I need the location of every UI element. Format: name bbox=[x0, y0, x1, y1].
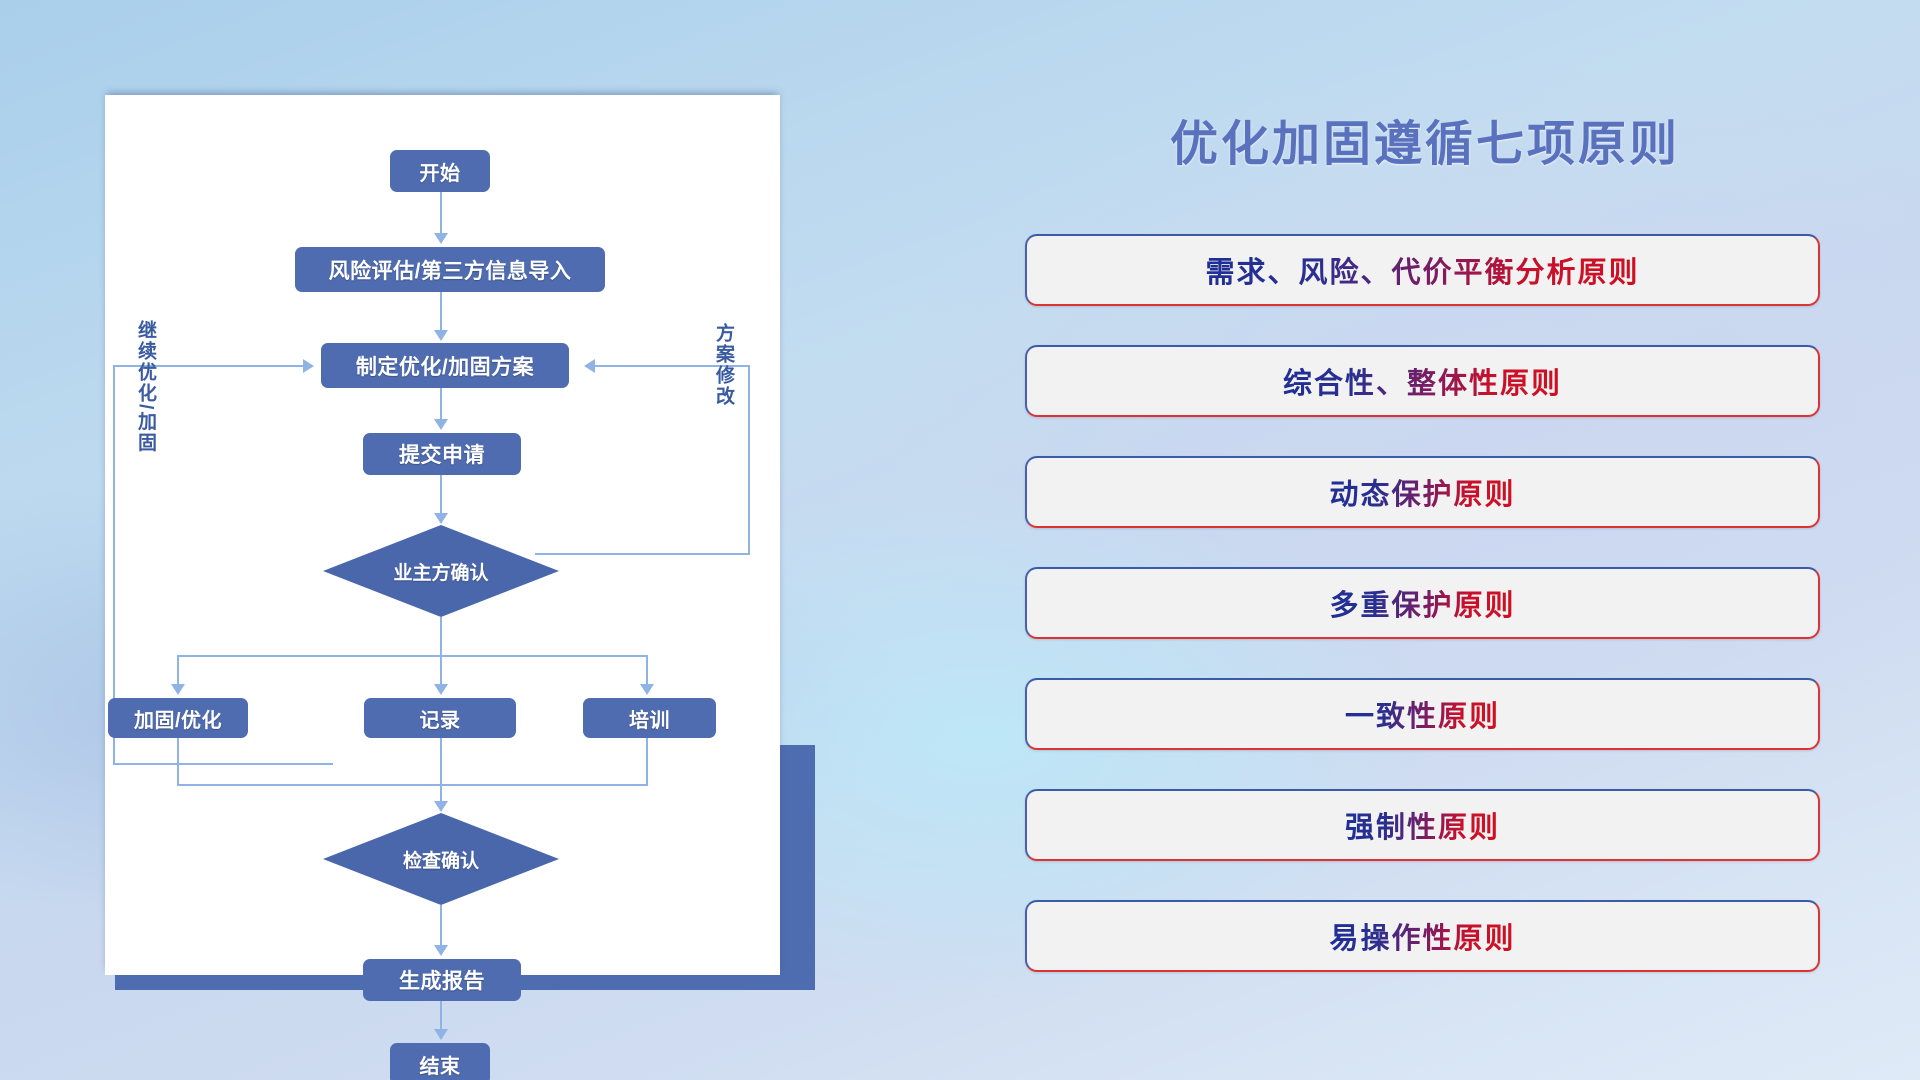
flow-node-reinforce-optimize[interactable]: 加固/优化 bbox=[108, 698, 248, 738]
arrow-report-to-end-icon bbox=[434, 1029, 448, 1040]
flow-node-risk-assessment-label: 风险评估/第三方信息导入 bbox=[329, 255, 572, 285]
arrow-right-loop-into-plan-icon bbox=[584, 359, 595, 373]
arrow-start-to-risk-icon bbox=[434, 233, 448, 244]
flow-node-training[interactable]: 培训 bbox=[583, 698, 716, 738]
connector-fanout-left bbox=[177, 655, 179, 687]
flow-node-end-label: 结束 bbox=[420, 1050, 461, 1079]
arrow-risk-to-plan-icon bbox=[434, 330, 448, 341]
connector-right-loop-vertical bbox=[748, 365, 750, 555]
connector-fanout-center bbox=[440, 655, 442, 687]
principle-card-6[interactable]: 强制性原则 bbox=[1025, 789, 1820, 861]
flow-node-submit-application-label: 提交申请 bbox=[399, 439, 485, 469]
principle-card-5-label: 一致性原则 bbox=[1345, 693, 1500, 735]
arrow-plan-to-submit-icon bbox=[434, 419, 448, 430]
principle-list: 需求、风险、代价平衡分析原则 综合性、整体性原则 动态保护原则 多重保护原则 一… bbox=[1025, 234, 1820, 1011]
flow-node-make-plan[interactable]: 制定优化/加固方案 bbox=[321, 343, 569, 388]
flow-decision-check-confirm[interactable]: 检查确认 bbox=[323, 813, 559, 905]
connector-right-loop-bottom bbox=[535, 553, 750, 555]
flow-edge-label-continue-optimize: 继续优化/加固 bbox=[135, 320, 155, 453]
connector-fanin-right bbox=[646, 738, 648, 786]
principle-card-3[interactable]: 动态保护原则 bbox=[1025, 456, 1820, 528]
connector-check-to-report bbox=[440, 905, 442, 949]
arrow-to-record-icon bbox=[434, 684, 448, 695]
connector-fanin-center bbox=[440, 738, 442, 804]
connector-fanin-bottom bbox=[177, 784, 647, 786]
principle-card-1-label: 需求、风险、代价平衡分析原则 bbox=[1205, 249, 1639, 291]
arrow-check-to-report-icon bbox=[434, 945, 448, 956]
principle-card-3-label: 动态保护原则 bbox=[1329, 471, 1515, 513]
flow-node-end[interactable]: 结束 bbox=[390, 1043, 490, 1080]
connector-fanin-left bbox=[177, 738, 179, 786]
flow-node-record[interactable]: 记录 bbox=[364, 698, 516, 738]
connector-owner-down bbox=[440, 617, 442, 657]
page-title: 优化加固遵循七项原则 bbox=[1030, 104, 1820, 174]
arrow-to-check-icon bbox=[434, 801, 448, 812]
slide-root: 开始 风险评估/第三方信息导入 制定优化/加固方案 继续优化/加固 方案修改 提… bbox=[0, 0, 1920, 1080]
flow-node-generate-report[interactable]: 生成报告 bbox=[363, 959, 521, 1001]
principle-card-4-label: 多重保护原则 bbox=[1329, 582, 1515, 624]
flow-node-submit-application[interactable]: 提交申请 bbox=[363, 433, 521, 475]
principle-card-2[interactable]: 综合性、整体性原则 bbox=[1025, 345, 1820, 417]
flow-node-record-label: 记录 bbox=[420, 704, 461, 733]
arrow-left-loop-into-plan-icon bbox=[303, 359, 314, 373]
arrow-submit-to-owner-icon bbox=[434, 513, 448, 524]
principle-card-6-label: 强制性原则 bbox=[1345, 804, 1500, 846]
principle-card-2-label: 综合性、整体性原则 bbox=[1283, 360, 1562, 402]
flowchart-card: 开始 风险评估/第三方信息导入 制定优化/加固方案 继续优化/加固 方案修改 提… bbox=[105, 95, 780, 975]
flow-node-make-plan-label: 制定优化/加固方案 bbox=[356, 351, 534, 381]
connector-fanout-top bbox=[177, 655, 647, 657]
flow-node-generate-report-label: 生成报告 bbox=[399, 965, 485, 995]
connector-fanout-right bbox=[646, 655, 648, 687]
arrow-to-reinforce-icon bbox=[171, 684, 185, 695]
principle-card-7[interactable]: 易操作性原则 bbox=[1025, 900, 1820, 972]
principle-card-1[interactable]: 需求、风险、代价平衡分析原则 bbox=[1025, 234, 1820, 306]
connector-risk-to-plan bbox=[440, 292, 442, 334]
arrow-to-training-icon bbox=[640, 684, 654, 695]
flow-node-start[interactable]: 开始 bbox=[390, 150, 490, 192]
principle-card-5[interactable]: 一致性原则 bbox=[1025, 678, 1820, 750]
flow-node-risk-assessment[interactable]: 风险评估/第三方信息导入 bbox=[295, 247, 605, 292]
flow-edge-label-plan-revision: 方案修改 bbox=[713, 323, 733, 407]
flow-decision-check-confirm-label: 检查确认 bbox=[403, 846, 479, 873]
flow-decision-owner-confirm-label: 业主方确认 bbox=[393, 558, 488, 585]
flow-decision-owner-confirm[interactable]: 业主方确认 bbox=[323, 525, 559, 617]
flow-node-start-label: 开始 bbox=[420, 157, 461, 186]
connector-left-loop-bottom bbox=[113, 763, 333, 765]
connector-plan-to-submit bbox=[440, 388, 442, 422]
flow-node-training-label: 培训 bbox=[629, 704, 670, 733]
connector-submit-to-owner bbox=[440, 475, 442, 517]
principle-card-7-label: 易操作性原则 bbox=[1329, 915, 1515, 957]
principle-card-4[interactable]: 多重保护原则 bbox=[1025, 567, 1820, 639]
connector-start-to-risk bbox=[440, 192, 442, 237]
flow-node-reinforce-optimize-label: 加固/优化 bbox=[134, 704, 222, 733]
